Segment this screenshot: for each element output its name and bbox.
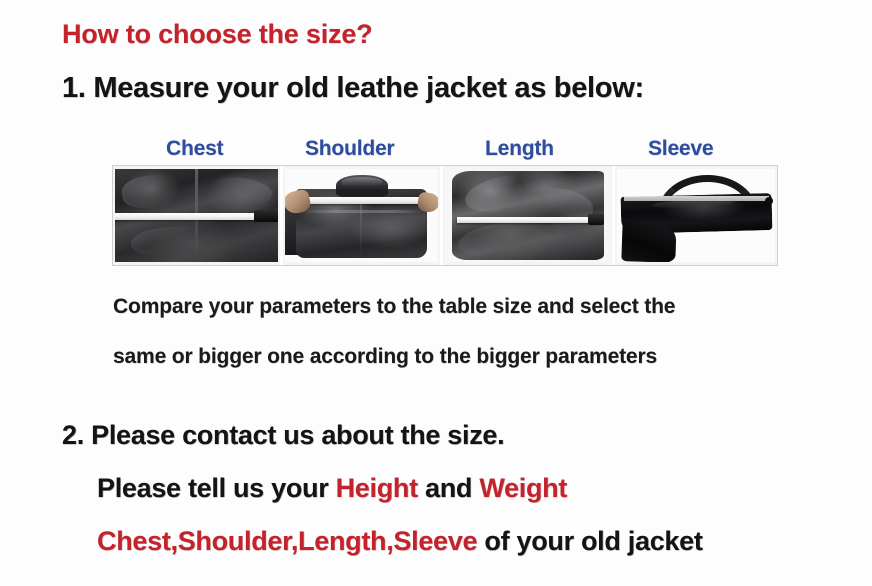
measuring-tape-sleeve <box>624 196 769 201</box>
and-connector: and <box>418 473 480 503</box>
size-guide-page: How to choose the size? 1. Measure your … <box>0 0 872 586</box>
instruction-line-1: Compare your parameters to the table siz… <box>113 295 813 319</box>
label-shoulder: Shoulder <box>305 137 394 161</box>
measurements-keywords: Chest,Shoulder,Length,Sleeve <box>97 526 477 556</box>
weight-keyword: Weight <box>479 473 567 503</box>
step-2-line-2: Chest,Shoulder,Length,Sleeve of your old… <box>97 526 703 557</box>
tape-end-clip <box>588 214 604 225</box>
photo-chest-measurement <box>113 166 283 265</box>
label-length: Length <box>485 137 554 161</box>
photo-sleeve-measurement <box>615 166 777 265</box>
measurement-labels-row: Chest Shoulder Length Sleeve <box>112 137 778 163</box>
instruction-line-2: same or bigger one according to the bigg… <box>113 345 813 369</box>
height-keyword: Height <box>336 473 418 503</box>
jacket-body-lower <box>622 220 677 262</box>
label-sleeve: Sleeve <box>648 137 713 161</box>
photo-length-inner <box>445 169 610 262</box>
step-1-heading: 1. Measure your old leathe jacket as bel… <box>62 72 644 105</box>
measuring-tape-length <box>457 217 599 223</box>
tape-end-clip <box>254 210 278 222</box>
back-center-crease <box>360 197 362 258</box>
photo-shoulder-inner <box>285 169 438 262</box>
label-chest: Chest <box>166 137 223 161</box>
step-2-heading: 2. Please contact us about the size. <box>62 420 504 451</box>
page-title: How to choose the size? <box>62 19 372 50</box>
measurement-photo-strip <box>112 165 778 266</box>
photo-sleeve-inner <box>617 169 775 262</box>
step-2-line-1: Please tell us your Height and Weight <box>97 473 567 504</box>
photo-shoulder-measurement <box>283 166 443 265</box>
tell-us-prefix: Please tell us your <box>97 473 336 503</box>
collar-highlight <box>342 177 382 185</box>
photo-chest-inner <box>115 169 278 262</box>
of-your-old-jacket-suffix: of your old jacket <box>477 526 702 556</box>
photo-length-measurement <box>443 166 615 265</box>
